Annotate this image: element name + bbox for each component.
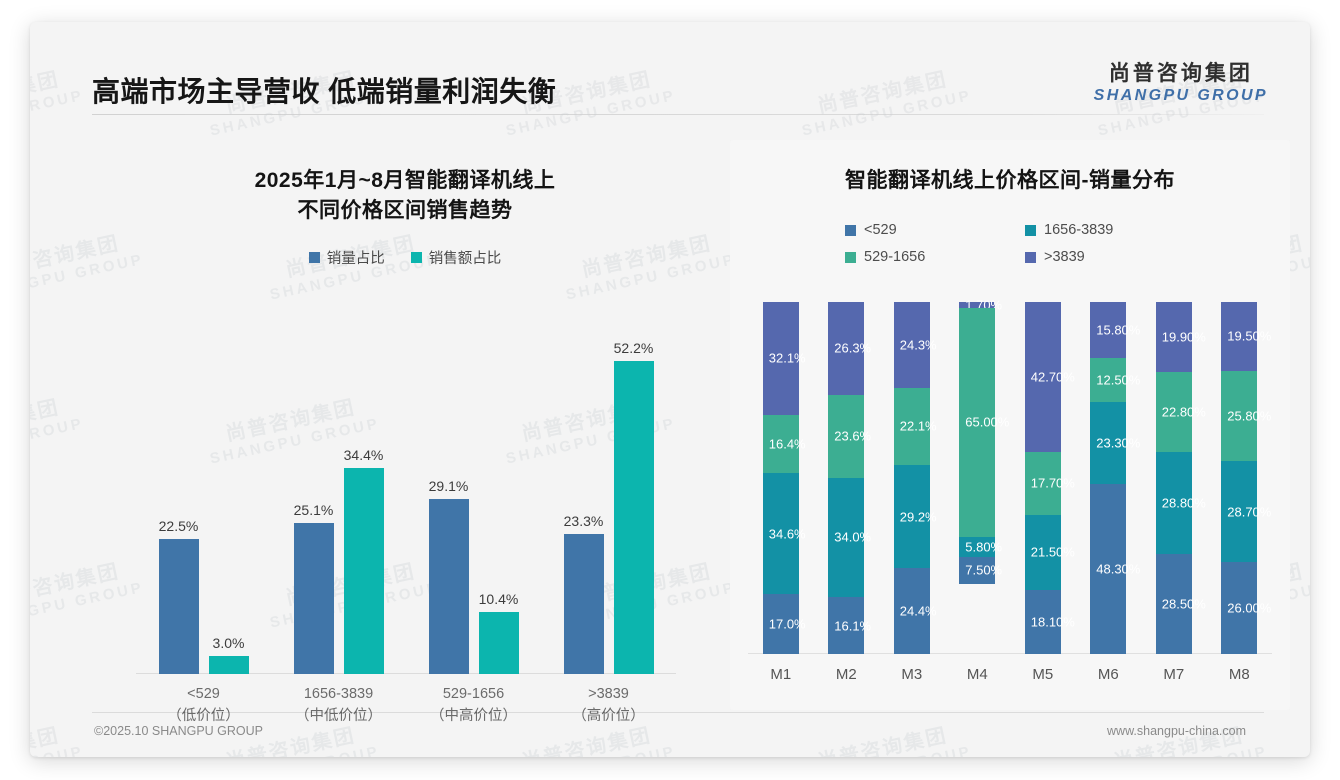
slide-header: 高端市场主导营收 低端销量利润失衡 尚普咨询集团 SHANGPU GROUP <box>30 22 1310 114</box>
segment-value-label: 22.80% <box>1162 405 1206 420</box>
stack-segment: 28.70% <box>1221 461 1257 562</box>
bar-rect <box>429 499 469 674</box>
x-axis-month-label: M2 <box>836 666 857 683</box>
bar-value-label: 29.1% <box>429 478 469 494</box>
stack-segment: 7.50% <box>959 557 995 583</box>
left-chart-legend: 销量占比销售额占比 <box>96 247 714 268</box>
grouped-bar-chart-panel: 2025年1月~8月智能翻译机线上 不同价格区间销售趋势 销量占比销售额占比 2… <box>96 140 714 710</box>
x-axis-category-label: >3839（高价位） <box>548 684 670 728</box>
right-chart-title: 智能翻译机线上价格区间-销量分布 <box>730 140 1290 196</box>
left-chart-title: 2025年1月~8月智能翻译机线上 不同价格区间销售趋势 <box>96 140 714 227</box>
bar-rect <box>564 534 604 674</box>
legend-label: <529 <box>864 222 897 238</box>
legend-label: 销量占比 <box>327 247 385 268</box>
segment-value-label: 15.80% <box>1096 322 1140 337</box>
brand-name-en: SHANGPU GROUP <box>1094 86 1268 105</box>
segment-value-label: 25.80% <box>1227 409 1271 424</box>
stack-segment: 32.1% <box>763 302 799 415</box>
stack-segment: 5.80% <box>959 537 995 557</box>
bar-value-label: 34.4% <box>344 447 384 463</box>
bar-volume[interactable]: 23.3% <box>564 534 604 674</box>
segment-value-label: 23.6% <box>834 429 871 444</box>
segment-value-label: 23.30% <box>1096 435 1140 450</box>
legend-swatch-icon <box>1025 225 1036 236</box>
stack-segment: 17.0% <box>763 594 799 654</box>
segment-value-label: 16.4% <box>769 436 806 451</box>
legend-swatch-icon <box>411 252 422 263</box>
segment-value-label: 19.50% <box>1227 329 1271 344</box>
segment-value-label: 16.1% <box>834 618 871 633</box>
stack-segment: 19.50% <box>1221 302 1257 371</box>
stacked-bar[interactable]: 24.3%22.1%29.2%24.4%M3 <box>894 302 930 654</box>
stack-segment: 19.90% <box>1156 302 1192 372</box>
watermark-text: 尚普咨询集团SHANGPU GROUP <box>30 720 86 757</box>
bar-group: 22.5%3.0%<529（低价位） <box>143 326 265 674</box>
bar-volume[interactable]: 25.1% <box>294 523 334 674</box>
stack-segment: 34.0% <box>828 478 864 598</box>
legend-item-2[interactable]: 1656-3839 <box>1025 222 1175 238</box>
category-range: <529 <box>143 684 265 706</box>
grouped-bar-plot-area: 22.5%3.0%<529（低价位）25.1%34.4%1656-3839（中低… <box>136 326 676 674</box>
category-range: 1656-3839 <box>278 684 400 706</box>
segment-value-label: 5.80% <box>965 539 1002 554</box>
bar-value-label: 3.0% <box>213 635 245 651</box>
legend-label: 销售额占比 <box>429 247 502 268</box>
segment-value-label: 12.50% <box>1096 372 1140 387</box>
stack-segment: 17.70% <box>1025 452 1061 514</box>
segment-value-label: 19.90% <box>1162 330 1206 345</box>
stack-segment: 25.80% <box>1221 371 1257 462</box>
footer-divider <box>92 712 1264 713</box>
watermark-text: 尚普咨询集团SHANGPU GROUP <box>30 392 86 468</box>
segment-value-label: 32.1% <box>769 351 806 366</box>
x-axis-month-label: M6 <box>1098 666 1119 683</box>
bar-revenue[interactable]: 10.4% <box>479 612 519 674</box>
x-axis-month-label: M5 <box>1032 666 1053 683</box>
legend-swatch-icon <box>845 252 856 263</box>
legend-swatch-icon <box>1025 252 1036 263</box>
legend-item-4[interactable]: >3839 <box>1025 249 1175 265</box>
stack-segment: 24.4% <box>894 568 930 654</box>
x-axis-category-label: <529（低价位） <box>143 684 265 728</box>
x-axis-month-label: M8 <box>1229 666 1250 683</box>
segment-value-label: 48.30% <box>1096 561 1140 576</box>
legend-label: 1656-3839 <box>1044 222 1113 238</box>
stack-segment: 28.50% <box>1156 554 1192 654</box>
category-tier: （高价位） <box>548 706 670 728</box>
stack-segment: 22.80% <box>1156 372 1192 452</box>
stacked-bar-chart-panel: 智能翻译机线上价格区间-销量分布 <5291656-3839529-1656>3… <box>730 140 1290 710</box>
stacked-bar[interactable]: 19.90%22.80%28.80%28.50%M7 <box>1156 302 1192 654</box>
segment-value-label: 21.50% <box>1031 545 1075 560</box>
legend-item-2[interactable]: 销售额占比 <box>411 247 502 268</box>
brand-name-cn: 尚普咨询集团 <box>1094 62 1268 86</box>
bar-value-label: 22.5% <box>159 518 199 534</box>
segment-value-label: 17.0% <box>769 617 806 632</box>
bar-revenue[interactable]: 52.2% <box>614 361 654 674</box>
bar-value-label: 23.3% <box>564 513 604 529</box>
stack-segment: 42.70% <box>1025 302 1061 452</box>
segment-value-label: 24.4% <box>900 604 937 619</box>
left-chart-title-line1: 2025年1月~8月智能翻译机线上 <box>96 166 714 196</box>
stack-segment: 16.1% <box>828 597 864 654</box>
stack-segment: 34.6% <box>763 473 799 595</box>
right-axis-baseline <box>748 653 1272 654</box>
segment-value-label: 26.00% <box>1227 601 1271 616</box>
legend-label: 529-1656 <box>864 249 925 265</box>
stack-segment: 23.6% <box>828 395 864 478</box>
segment-value-label: 17.70% <box>1031 476 1075 491</box>
segment-value-label: 28.70% <box>1227 504 1271 519</box>
bar-volume[interactable]: 22.5% <box>159 539 199 674</box>
stack-segment: 26.00% <box>1221 562 1257 654</box>
bar-value-label: 25.1% <box>294 502 334 518</box>
x-axis-month-label: M7 <box>1163 666 1184 683</box>
stacked-bar[interactable]: 26.3%23.6%34.0%16.1%M2 <box>828 302 864 654</box>
x-axis-month-label: M3 <box>901 666 922 683</box>
legend-item-3[interactable]: 529-1656 <box>845 249 995 265</box>
x-axis-category-label: 529-1656（中高价位） <box>413 684 535 728</box>
stack-segment: 28.80% <box>1156 452 1192 553</box>
legend-swatch-icon <box>309 252 320 263</box>
stack-segment: 18.10% <box>1025 590 1061 654</box>
x-axis-month-label: M4 <box>967 666 988 683</box>
page-title: 高端市场主导营收 低端销量利润失衡 <box>92 70 556 110</box>
segment-value-label: 29.2% <box>900 509 937 524</box>
category-tier: （中低价位） <box>278 706 400 728</box>
bar-rect <box>159 539 199 674</box>
stack-segment: 22.1% <box>894 388 930 466</box>
category-range: 529-1656 <box>413 684 535 706</box>
watermark-text: 尚普咨询集团SHANGPU GROUP <box>796 720 974 757</box>
left-chart-title-line2: 不同价格区间销售趋势 <box>96 196 714 226</box>
bar-group: 25.1%34.4%1656-3839（中低价位） <box>278 326 400 674</box>
legend-swatch-icon <box>845 225 856 236</box>
stacked-bar[interactable]: 19.50%25.80%28.70%26.00%M8 <box>1221 302 1257 654</box>
stacked-bar-plot-area: 32.1%16.4%34.6%17.0%M126.3%23.6%34.0%16.… <box>748 302 1272 654</box>
bar-rect <box>614 361 654 674</box>
stacked-bar[interactable]: 1.70%65.00%5.80%7.50%M4 <box>959 302 995 654</box>
x-axis-month-label: M1 <box>770 666 791 683</box>
segment-value-label: 26.3% <box>834 341 871 356</box>
bar-revenue[interactable]: 34.4% <box>344 468 384 674</box>
segment-value-label: 28.80% <box>1162 495 1206 510</box>
right-chart-legend: <5291656-3839529-1656>3839 <box>730 222 1290 265</box>
stack-segment: 48.30% <box>1090 484 1126 654</box>
category-range: >3839 <box>548 684 670 706</box>
brand-logo: 尚普咨询集团 SHANGPU GROUP <box>1094 62 1268 105</box>
segment-value-label: 65.00% <box>965 415 1009 430</box>
bar-volume[interactable]: 29.1% <box>429 499 469 674</box>
footer-copyright: ©2025.10 SHANGPU GROUP <box>94 724 263 738</box>
segment-value-label: 7.50% <box>965 563 1002 578</box>
stack-segment: 24.3% <box>894 302 930 388</box>
segment-value-label: 22.1% <box>900 419 937 434</box>
category-tier: （中高价位） <box>413 706 535 728</box>
stacked-bar[interactable]: 32.1%16.4%34.6%17.0%M1 <box>763 302 799 654</box>
bar-rect <box>479 612 519 674</box>
bar-rect <box>344 468 384 674</box>
stacked-bar[interactable]: 15.80%12.50%23.30%48.30%M6 <box>1090 302 1126 654</box>
stacked-bar[interactable]: 42.70%17.70%21.50%18.10%M5 <box>1025 302 1061 654</box>
bar-revenue[interactable]: 3.0% <box>209 656 249 674</box>
bar-group: 29.1%10.4%529-1656（中高价位） <box>413 326 535 674</box>
header-divider <box>92 114 1264 115</box>
bar-rect <box>294 523 334 674</box>
bar-value-label: 10.4% <box>479 591 519 607</box>
stack-segment: 26.3% <box>828 302 864 395</box>
segment-value-label: 42.70% <box>1031 370 1075 385</box>
bar-value-label: 52.2% <box>614 340 654 356</box>
stack-segment: 15.80% <box>1090 302 1126 358</box>
bar-group: 23.3%52.2%>3839（高价位） <box>548 326 670 674</box>
segment-value-label: 24.3% <box>900 337 937 352</box>
segment-value-label: 28.50% <box>1162 596 1206 611</box>
segment-value-label: 34.0% <box>834 530 871 545</box>
stack-segment: 16.4% <box>763 415 799 473</box>
stack-segment: 12.50% <box>1090 358 1126 402</box>
legend-label: >3839 <box>1044 249 1085 265</box>
legend-item-1[interactable]: 销量占比 <box>309 247 385 268</box>
bar-rect <box>209 656 249 674</box>
slide-canvas: 尚普咨询集团SHANGPU GROUP尚普咨询集团SHANGPU GROUP尚普… <box>30 22 1310 757</box>
stack-segment: 29.2% <box>894 465 930 568</box>
stack-segment: 23.30% <box>1090 402 1126 484</box>
segment-value-label: 18.10% <box>1031 615 1075 630</box>
stack-segment: 65.00% <box>959 308 995 537</box>
footer-website: www.shangpu-china.com <box>1107 724 1246 738</box>
segment-value-label: 34.6% <box>769 526 806 541</box>
x-axis-category-label: 1656-3839（中低价位） <box>278 684 400 728</box>
stack-segment: 21.50% <box>1025 515 1061 591</box>
legend-item-1[interactable]: <529 <box>845 222 995 238</box>
